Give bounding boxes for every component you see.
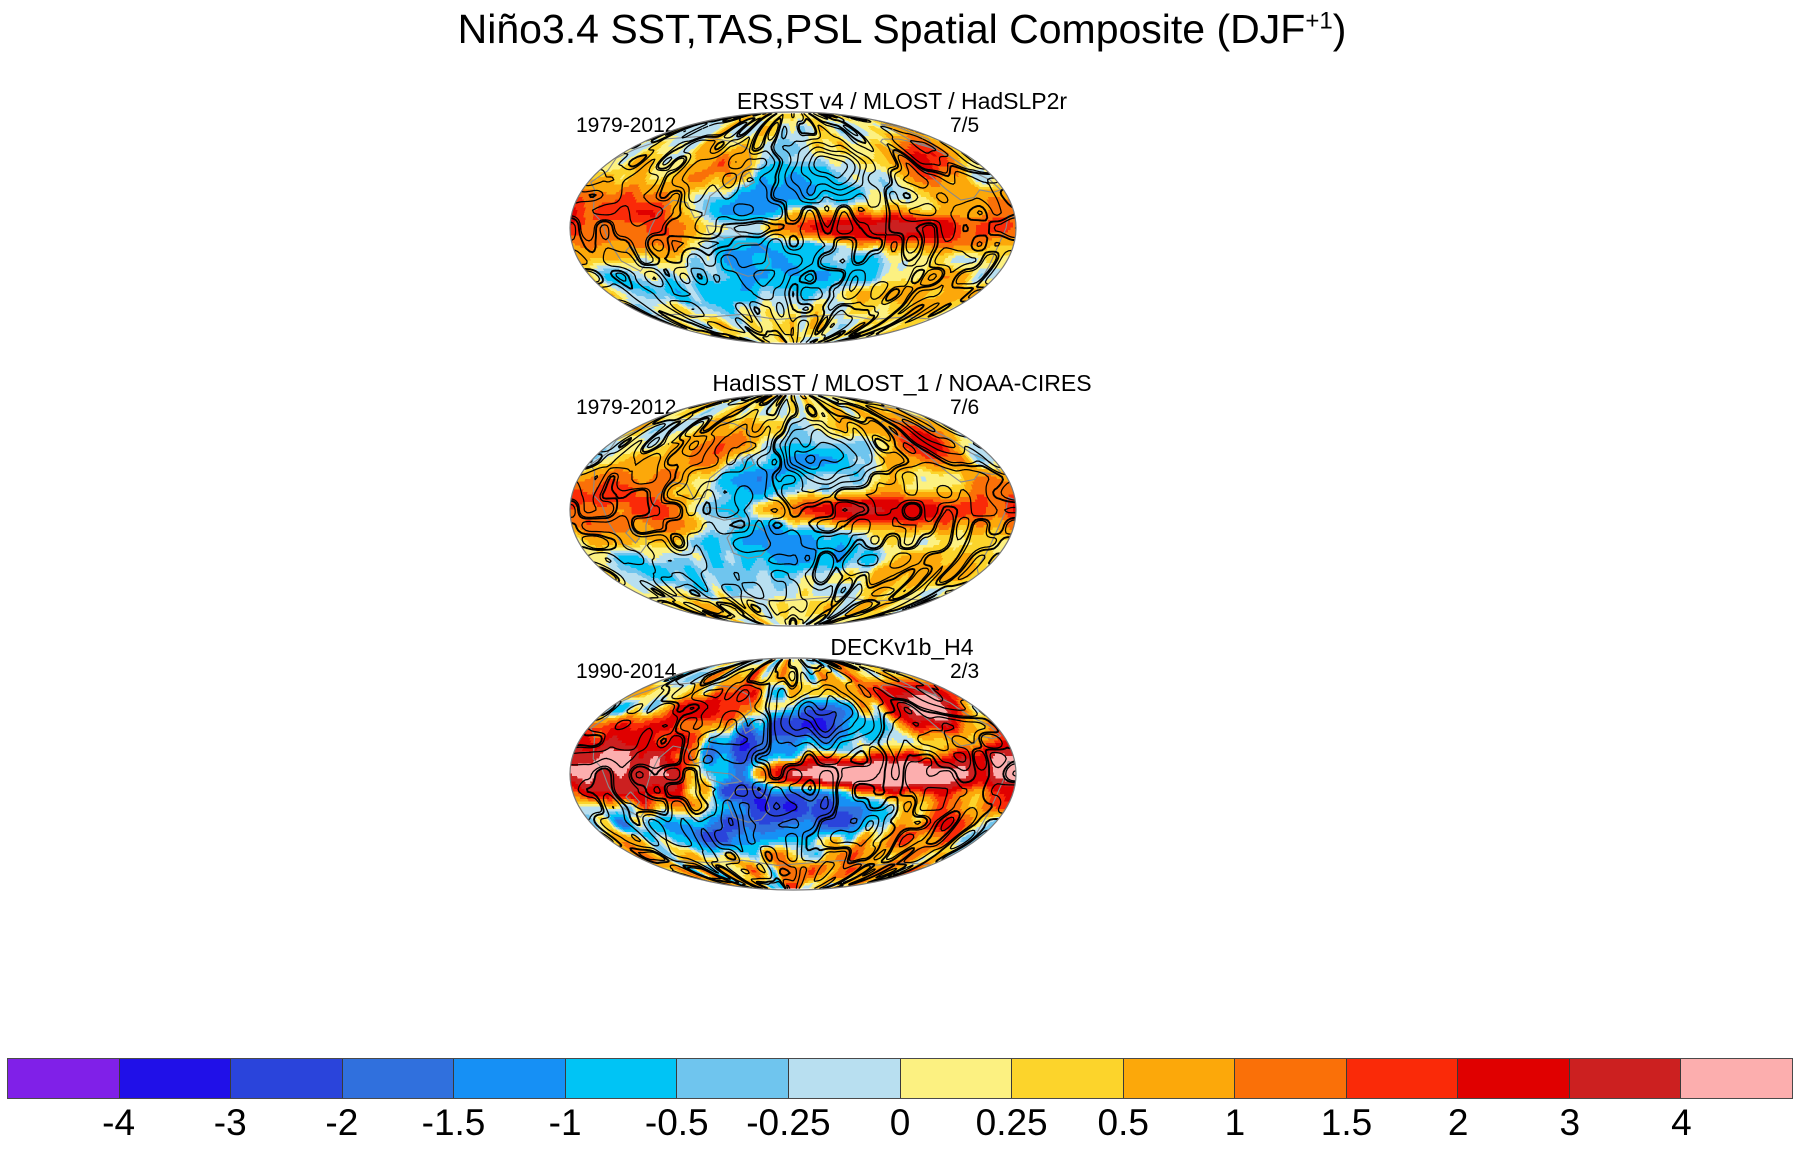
- colorbar-tick-4: -1: [549, 1100, 582, 1146]
- colorbar-swatch-0: [8, 1059, 120, 1098]
- panel-hadisst-map: [568, 392, 1018, 628]
- figure-title-superscript: +1: [1305, 7, 1332, 34]
- figure-title-text: Niño3.4 SST,TAS,PSL Spatial Composite (D…: [458, 6, 1306, 52]
- colorbar-swatch-5: [566, 1059, 678, 1098]
- panel-ersst-map: [568, 110, 1018, 346]
- panel-deck-map: [568, 656, 1018, 892]
- colorbar-tick-3: -1.5: [422, 1100, 486, 1146]
- colorbar-tick-10: 1: [1225, 1100, 1246, 1146]
- colorbar-swatch-9: [1012, 1059, 1124, 1098]
- colorbar-tick-0: -4: [102, 1100, 135, 1146]
- colorbar-tick-13: 3: [1559, 1100, 1580, 1146]
- figure-title-close: ): [1333, 6, 1347, 52]
- figure-title: Niño3.4 SST,TAS,PSL Spatial Composite (D…: [0, 6, 1804, 53]
- colorbar-tick-6: -0.25: [746, 1100, 830, 1146]
- colorbar: [7, 1058, 1793, 1099]
- colorbar-tick-2: -2: [325, 1100, 358, 1146]
- panel-hadisst: HadISST / MLOST_1 / NOAA-CIRES 1979-2012…: [0, 370, 1804, 640]
- colorbar-swatch-13: [1458, 1059, 1570, 1098]
- colorbar-swatch-7: [789, 1059, 901, 1098]
- colorbar-tick-7: 0: [890, 1100, 911, 1146]
- colorbar-tick-9: 0.5: [1098, 1100, 1149, 1146]
- colorbar-swatch-2: [231, 1059, 343, 1098]
- colorbar-tick-1: -3: [214, 1100, 247, 1146]
- colorbar-swatch-12: [1347, 1059, 1459, 1098]
- colorbar-tick-labels: -4-3-2-1.5-1-0.5-0.2500.250.511.5234: [7, 1100, 1793, 1146]
- colorbar-swatch-1: [120, 1059, 232, 1098]
- colorbar-swatch-11: [1235, 1059, 1347, 1098]
- colorbar-tick-14: 4: [1671, 1100, 1692, 1146]
- colorbar-swatch-3: [343, 1059, 455, 1098]
- colorbar-tick-5: -0.5: [645, 1100, 709, 1146]
- colorbar-tick-11: 1.5: [1321, 1100, 1372, 1146]
- colorbar-tick-12: 2: [1448, 1100, 1469, 1146]
- colorbar-swatch-10: [1124, 1059, 1236, 1098]
- colorbar-tick-8: 0.25: [976, 1100, 1048, 1146]
- figure-root: Niño3.4 SST,TAS,PSL Spatial Composite (D…: [0, 0, 1804, 1151]
- map-canvas: [568, 656, 1018, 892]
- colorbar-swatch-15: [1681, 1059, 1792, 1098]
- map-canvas: [568, 110, 1018, 346]
- colorbar-swatch-6: [677, 1059, 789, 1098]
- panel-ersst: ERSST v4 / MLOST / HadSLP2r 1979-2012 7/…: [0, 88, 1804, 358]
- colorbar-swatch-8: [901, 1059, 1013, 1098]
- colorbar-swatch-14: [1570, 1059, 1682, 1098]
- map-canvas: [568, 392, 1018, 628]
- colorbar-swatch-4: [454, 1059, 566, 1098]
- panel-deck: DECKv1b_H4 1990-2014 2/3: [0, 634, 1804, 914]
